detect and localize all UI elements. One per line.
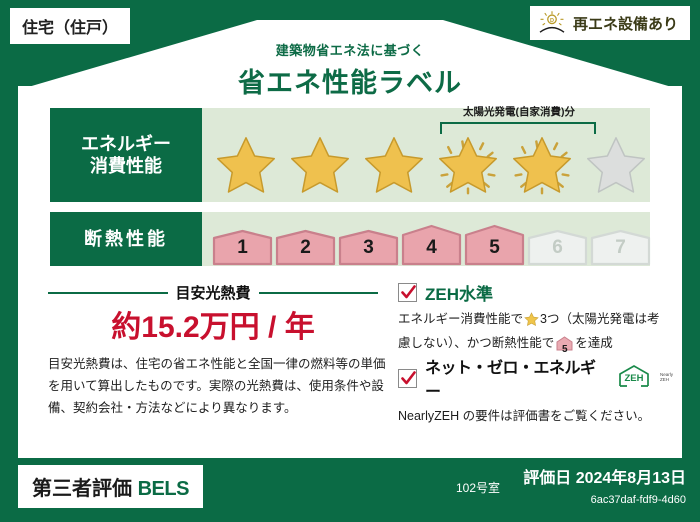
zeh-description: エネルギー消費性能で3つ（太陽光発電は考慮しない）、かつ断熱性能で5を達成 [398,309,666,359]
insulation-level-inactive: 6 [527,229,588,266]
energy-performance-label-box: エネルギー 消費性能 [50,108,202,202]
solar-caption: 太陽光発電(自家消費)分 [436,104,602,119]
svg-text:ZEH: ZEH [624,373,643,384]
star-filled [210,134,282,198]
star-filled [432,134,504,198]
star-icon [524,315,539,329]
stars-area: 太陽光発電(自家消費)分 [202,108,650,202]
insulation-level-active: 4 [401,224,462,266]
zeh-logo-subtext: Nearly ZEH [660,373,673,383]
net-zero-title: ネット・ゼロ・エネルギー [425,354,605,402]
insulation-level-number: 2 [275,237,336,259]
insulation-performance-panel: 断熱性能 1234567 [50,212,650,266]
insulation-level-active: 1 [212,229,273,266]
renewable-equipment-badge: D 再エネ設備あり [530,6,690,40]
rule-right [259,292,379,294]
insulation-label: 断熱性能 [84,228,168,251]
zeh-title-row: ZEH水準 [398,280,666,305]
insulation-level-active: 2 [275,229,336,266]
zeh-standard-block: ZEH水準 エネルギー消費性能で3つ（太陽光発電は考慮しない）、かつ断熱性能で5… [398,280,666,359]
energy-label-line1: エネルギー [81,133,171,156]
renewable-label: 再エネ設備あり [573,13,678,34]
star-filled [358,134,430,198]
cost-heading-label: 目安光熱費 [176,282,251,303]
insulation-level-active: 5 [464,224,525,266]
sun-solar-icon: D [538,11,566,35]
energy-performance-panel: エネルギー 消費性能 太陽光発電(自家消費)分 [50,108,650,202]
house-type-badge: 住宅（住戸） [10,8,130,44]
star-filled [506,134,578,198]
zeh-checkbox[interactable] [398,283,417,302]
evaluation-date: 評価日 2024年8月13日 [523,464,686,488]
zeh-desc-part-c: を達成 [575,336,613,350]
zeh-logo-icon: ZEH [617,364,651,393]
zeh-logo-sub-line2: ZEH [660,378,673,383]
insulation-level-inactive: 7 [590,229,651,266]
star-rating [210,134,652,198]
insulation-level-active: 3 [338,229,399,266]
energy-performance-label: 住宅（住戸） D 再エネ設備あり 建築物省エネ法に基 [0,0,700,522]
star-empty [580,134,652,198]
star-filled [284,134,356,198]
net-zero-checkbox[interactable] [398,369,417,388]
cost-value: 約15.2万円 / 年 [48,302,378,346]
net-zero-description: NearlyZEH の要件は評価書をご覧ください。 [398,406,673,427]
insulation-label-box: 断熱性能 [50,212,202,266]
insulation-level-number: 6 [527,237,588,259]
zeh-desc-part-a: エネルギー消費性能で [398,312,523,326]
rule-left [48,292,168,294]
net-zero-title-row: ネット・ゼロ・エネルギー ZEH Nearly ZEH [398,354,673,402]
cost-heading: 目安光熱費 [48,282,378,303]
svg-text:D: D [550,18,554,24]
energy-label-line2: 消費性能 [90,155,162,178]
label-card: エネルギー 消費性能 太陽光発電(自家消費)分 断熱性能 1234567 目安光… [18,86,682,458]
page-title: 省エネ性能ラベル [0,61,700,100]
zeh-title: ZEH水準 [425,280,493,305]
insulation-level-number: 7 [590,237,651,259]
bels-en-label: BELS [138,478,189,500]
insulation-level-number: 4 [401,237,462,259]
bels-jp-label: 第三者評価 [32,478,138,500]
room-number: 102号室 [456,479,500,496]
insulation-level-number: 5 [464,237,525,259]
check-icon [400,370,417,387]
cost-disclaimer: 目安光熱費は、住宅の省エネ性能と全国一律の燃料等の単価を用いて算出したものです。… [48,354,388,420]
solar-bracket [440,122,596,134]
insulation-level-number: 1 [212,237,273,259]
insulation-level-scale: 1234567 [202,212,651,266]
insulation-level-number: 3 [338,237,399,259]
house-type-label: 住宅（住戸） [22,20,118,37]
net-zero-energy-block: ネット・ゼロ・エネルギー ZEH Nearly ZEH NearlyZEH の要… [398,354,673,427]
title-block: 建築物省エネ法に基づく 省エネ性能ラベル [0,40,700,100]
bels-badge: 第三者評価 BELS [18,465,203,508]
evaluation-id: 6ac37daf-fdf9-4d60 [591,494,686,506]
check-icon [400,284,417,301]
